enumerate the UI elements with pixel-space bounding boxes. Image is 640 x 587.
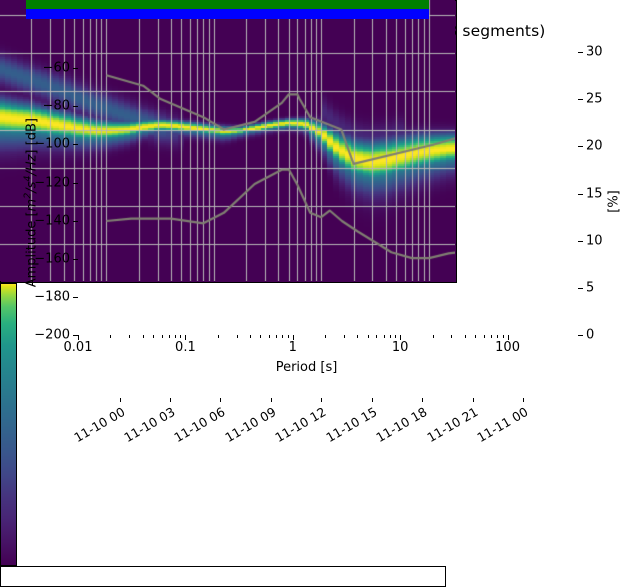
coverage-tick-mark [170,398,171,402]
ppsd-figure: BW.MGS02..HHE 2025-11-10 -- 2025-11-10 (… [0,0,640,480]
colorbar-tick-mark [578,335,583,336]
x-minor-tick [376,335,377,338]
x-tick-mark [293,335,294,340]
x-tick-label: 10 [392,340,409,355]
x-minor-tick [288,335,289,338]
y-tick-mark [73,297,78,298]
x-minor-tick [384,335,385,338]
x-minor-tick [143,335,144,338]
x-minor-tick [357,335,358,338]
x-minor-tick [260,335,261,338]
coverage-tick-mark [422,398,423,402]
colorbar-tick-label: 10 [586,233,603,248]
y-tick-mark [73,335,78,336]
y-axis-label: Amplitude [m2/s4/Hz] [dB] [22,68,39,338]
x-minor-tick [175,335,176,338]
colorbar-tick-mark [578,146,583,147]
x-minor-tick [269,335,270,338]
y-tick-mark [73,68,78,69]
x-minor-tick [390,335,391,338]
x-tick-label: 0.1 [175,340,196,355]
x-tick-label: 1 [289,340,297,355]
coverage-tick-mark [271,398,272,402]
y-tick-mark [73,144,78,145]
x-minor-tick [325,335,326,338]
x-minor-tick [395,335,396,338]
colorbar-tick-label: 5 [586,280,594,295]
y-tick-mark [73,106,78,107]
x-minor-tick [497,335,498,338]
y-tick-mark [73,259,78,260]
x-minor-tick [237,335,238,338]
x-minor-tick [491,335,492,338]
x-minor-tick [465,335,466,338]
x-minor-tick [129,335,130,338]
colorbar-tick-label: 15 [586,186,603,201]
coverage-tick-mark [372,398,373,402]
x-minor-tick [180,335,181,338]
x-minor-tick [162,335,163,338]
colorbar-tick-mark [578,288,583,289]
x-minor-tick [368,335,369,338]
colorbar-tick-mark [578,194,583,195]
colorbar-tick-mark [578,99,583,100]
x-minor-tick [282,335,283,338]
coverage-segment-blue [26,9,429,19]
coverage-segment-green [26,0,429,9]
x-minor-tick [475,335,476,338]
x-minor-tick [153,335,154,338]
y-tick-mark [73,183,78,184]
x-minor-tick [484,335,485,338]
colorbar-label: [%] [607,142,622,262]
x-axis-label: Period [s] [78,360,535,375]
x-minor-tick [503,335,504,338]
x-tick-mark [400,335,401,340]
colorbar-tick-label: 30 [586,45,603,60]
colorbar-tick-mark [578,241,583,242]
x-minor-tick [218,335,219,338]
coverage-tick-mark [523,398,524,402]
coverage-tick-mark [321,398,322,402]
x-tick-mark [508,335,509,340]
x-minor-tick [276,335,277,338]
colorbar-tick-label: 20 [586,139,603,154]
colorbar-tick-label: 25 [586,92,603,107]
x-minor-tick [344,335,345,338]
coverage-bar[interactable] [0,566,446,587]
y-tick-mark [73,221,78,222]
colorbar-tick-label: 0 [586,328,594,343]
colorbar-tick-mark [578,52,583,53]
x-minor-tick [250,335,251,338]
coverage-tick-mark [473,398,474,402]
x-tick-mark [78,335,79,340]
colorbar [0,283,17,566]
x-minor-tick [433,335,434,338]
coverage-tick-mark [220,398,221,402]
x-minor-tick [169,335,170,338]
x-minor-tick [451,335,452,338]
coverage-tick-mark [120,398,121,402]
x-tick-mark [185,335,186,340]
x-tick-label: 100 [495,340,520,355]
x-minor-tick [110,335,111,338]
